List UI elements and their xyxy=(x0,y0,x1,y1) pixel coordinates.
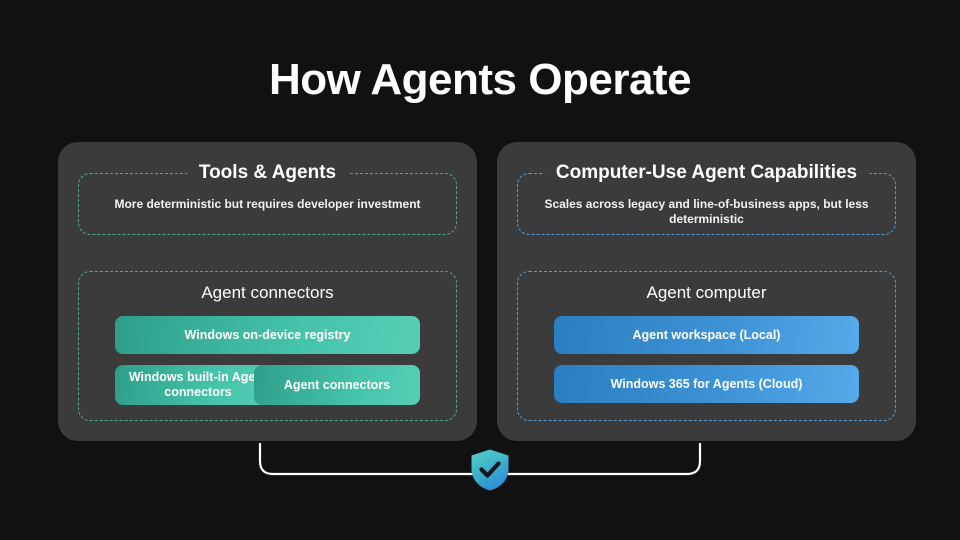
summary-box: Computer-Use Agent Capabilities Scales a… xyxy=(517,173,896,235)
pill-windows-365-for-agents-cloud[interactable]: Windows 365 for Agents (Cloud) xyxy=(554,365,859,403)
agent-connectors-box: Agent connectors Windows on-device regis… xyxy=(78,271,457,421)
pill-agent-workspace-local[interactable]: Agent workspace (Local) xyxy=(554,316,859,354)
panel-tools-and-agents: Tools & Agents More deterministic but re… xyxy=(58,142,477,441)
section-heading: Agent connectors xyxy=(79,282,456,304)
pill-agent-connectors[interactable]: Agent connectors xyxy=(254,365,420,405)
pill-windows-on-device-registry[interactable]: Windows on-device registry xyxy=(115,316,420,354)
summary-box: Tools & Agents More deterministic but re… xyxy=(78,173,457,235)
shield-check-icon xyxy=(469,448,511,492)
agent-computer-box: Agent computer Agent workspace (Local) W… xyxy=(517,271,896,421)
panel-heading: Computer-Use Agent Capabilities xyxy=(544,160,869,186)
section-heading: Agent computer xyxy=(518,282,895,304)
page-title: How Agents Operate xyxy=(0,56,960,104)
panel-heading: Tools & Agents xyxy=(187,160,348,186)
panel-summary: More deterministic but requires develope… xyxy=(93,197,442,212)
panel-summary: Scales across legacy and line-of-busines… xyxy=(532,197,881,227)
panel-computer-use-agent-capabilities: Computer-Use Agent Capabilities Scales a… xyxy=(497,142,916,441)
